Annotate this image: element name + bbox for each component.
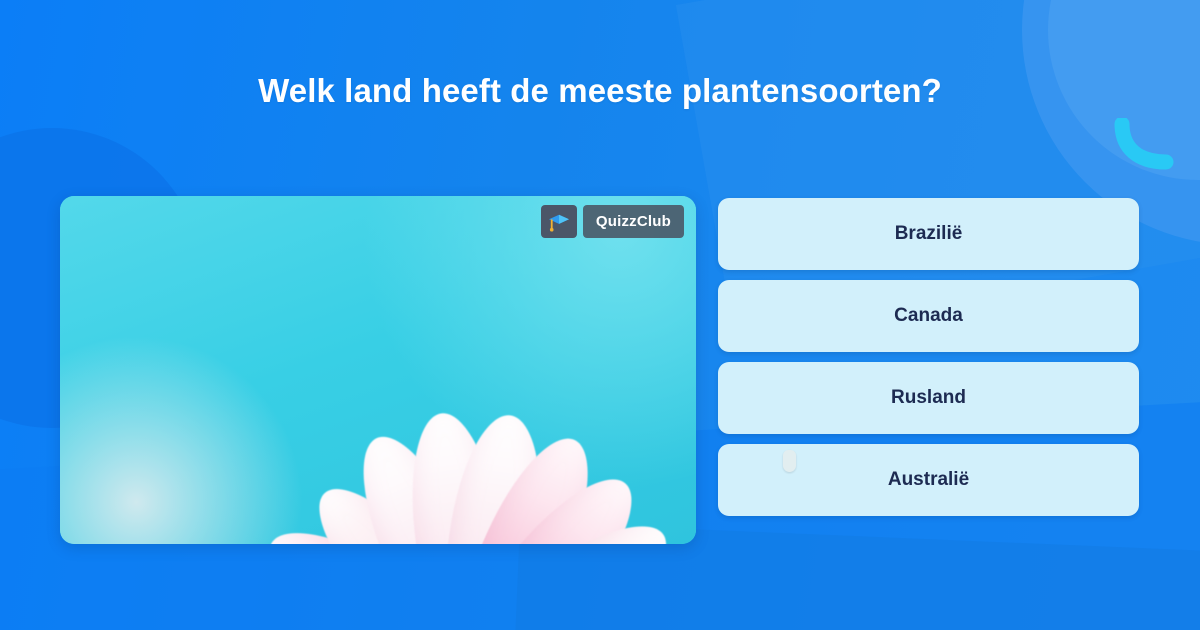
scroll-handle[interactable] <box>783 450 796 472</box>
graduation-cap-icon <box>541 205 577 238</box>
page-title: Welk land heeft de meeste plantensoorten… <box>0 72 1200 110</box>
watermark: QuizzClub <box>541 205 684 238</box>
answer-option-2[interactable]: Canada <box>718 280 1139 352</box>
answer-option-3[interactable]: Rusland <box>718 362 1139 434</box>
answer-option-1[interactable]: Brazilië <box>718 198 1139 270</box>
quiz-card: Welk land heeft de meeste plantensoorten… <box>0 0 1200 630</box>
answer-option-4[interactable]: Australië <box>718 444 1139 516</box>
question-image-card: QuizzClub <box>60 196 696 544</box>
cyan-arc-icon <box>1114 118 1176 170</box>
watermark-brand: QuizzClub <box>583 205 684 238</box>
answer-list: Brazilië Canada Rusland Australië <box>718 198 1139 516</box>
flower-photo <box>60 196 696 544</box>
